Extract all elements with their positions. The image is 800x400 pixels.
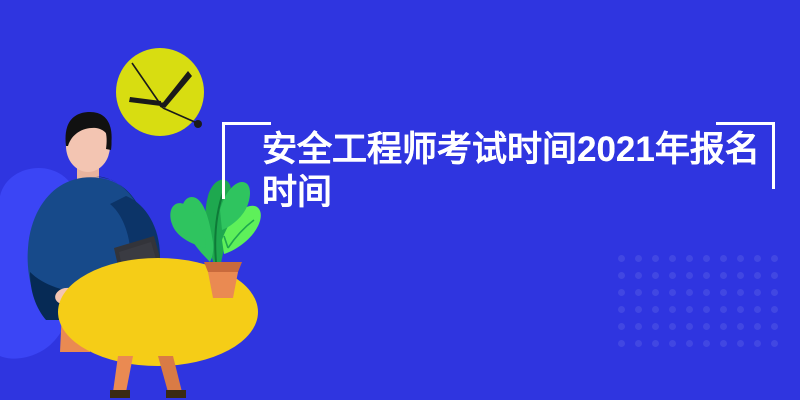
dot <box>737 289 744 296</box>
dot <box>618 306 625 313</box>
dot-grid-decoration <box>618 255 788 357</box>
dot <box>720 306 727 313</box>
dot <box>686 289 693 296</box>
dot <box>618 272 625 279</box>
dot <box>652 289 659 296</box>
dot <box>737 323 744 330</box>
dot <box>720 255 727 262</box>
clock-face-icon <box>116 48 204 136</box>
dot <box>720 272 727 279</box>
clock-center-pin-icon <box>159 102 164 107</box>
dot <box>652 255 659 262</box>
dot <box>635 340 642 347</box>
dot <box>669 340 676 347</box>
dot <box>703 289 710 296</box>
dot <box>686 272 693 279</box>
dot <box>720 289 727 296</box>
dot <box>635 323 642 330</box>
dot <box>771 272 778 279</box>
dot <box>771 323 778 330</box>
dot <box>703 255 710 262</box>
plant-pot-rim <box>204 262 242 272</box>
dot <box>686 306 693 313</box>
dot <box>737 340 744 347</box>
dot <box>703 323 710 330</box>
dot <box>754 306 761 313</box>
desk-foot-right <box>166 390 186 398</box>
dot <box>754 255 761 262</box>
dot <box>703 272 710 279</box>
dot <box>635 306 642 313</box>
dot <box>754 272 761 279</box>
banner-image: 安全工程师考试时间2021年报名时间 <box>0 0 800 400</box>
dot <box>686 323 693 330</box>
dot <box>737 306 744 313</box>
dot <box>618 323 625 330</box>
dot <box>720 340 727 347</box>
dot <box>771 289 778 296</box>
dot <box>703 306 710 313</box>
dot <box>635 255 642 262</box>
page-title: 安全工程师考试时间2021年报名时间 <box>262 128 782 214</box>
dot <box>635 272 642 279</box>
dot <box>754 340 761 347</box>
dot <box>754 323 761 330</box>
dot <box>771 255 778 262</box>
dot <box>652 340 659 347</box>
dot <box>754 289 761 296</box>
dot <box>652 323 659 330</box>
dot <box>618 255 625 262</box>
dot <box>669 323 676 330</box>
dot <box>686 340 693 347</box>
dot <box>669 272 676 279</box>
dot <box>669 306 676 313</box>
dot <box>635 289 642 296</box>
plant-pot-body <box>208 272 238 298</box>
title-block: 安全工程师考试时间2021年报名时间 <box>262 128 782 214</box>
dot <box>737 255 744 262</box>
dot <box>618 289 625 296</box>
dot <box>737 272 744 279</box>
dot <box>669 289 676 296</box>
dot <box>652 272 659 279</box>
dot <box>652 306 659 313</box>
desk-foot-left <box>110 390 130 398</box>
dot <box>720 323 727 330</box>
clock-second-hand-tip-icon <box>194 120 202 128</box>
dot <box>771 306 778 313</box>
dot <box>703 340 710 347</box>
dot <box>618 340 625 347</box>
dot <box>669 255 676 262</box>
dot <box>771 340 778 347</box>
dot <box>686 255 693 262</box>
